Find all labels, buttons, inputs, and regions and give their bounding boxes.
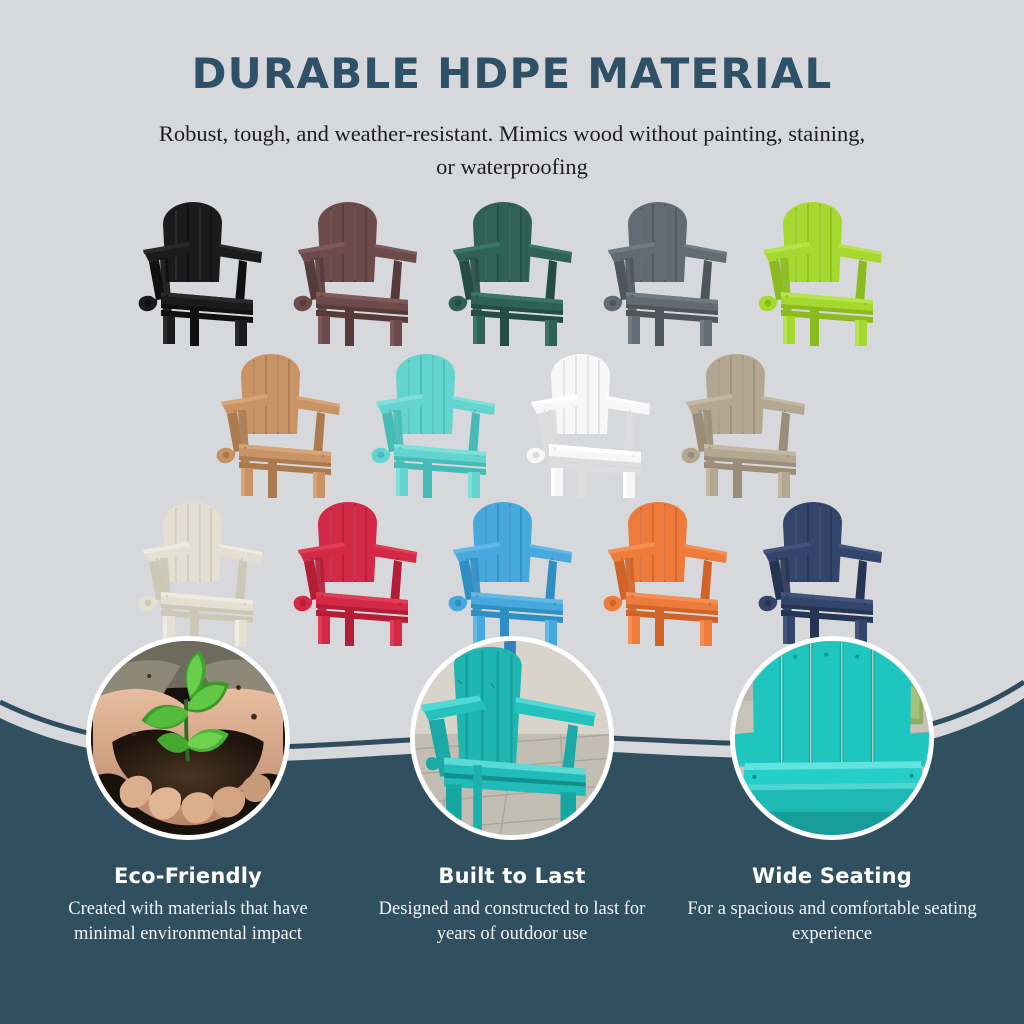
feature-description: For a spacious and comfortable seating e…: [682, 897, 982, 946]
chair-3-3: [437, 496, 587, 646]
chair-1-2: [282, 196, 432, 346]
page-subtitle: Robust, tough, and weather-resistant. Mi…: [157, 118, 867, 183]
infographic-page: DURABLE HDPE MATERIAL Robust, tough, and…: [0, 0, 1024, 1024]
turquoise-chair-on-patio-photo: [415, 641, 609, 835]
feature-eco-friendly: Eco-Friendly Created with materials that…: [28, 636, 348, 946]
header-block: DURABLE HDPE MATERIAL Robust, tough, and…: [0, 52, 1024, 183]
chair-swatch-gray[interactable]: [590, 196, 745, 346]
chair-1-4: [592, 196, 742, 346]
chair-swatch-teak[interactable]: [202, 348, 357, 498]
chair-3-5: [747, 496, 897, 646]
chair-swatch-red[interactable]: [280, 496, 435, 646]
feature-image-eco-friendly: [86, 636, 290, 840]
chair-2-4: [670, 348, 820, 498]
chair-swatch-turquoise[interactable]: [357, 348, 512, 498]
chair-3-4: [592, 496, 742, 646]
chair-1-3: [437, 196, 587, 346]
page-title: DURABLE HDPE MATERIAL: [0, 52, 1024, 96]
seedling-in-hands-photo: [91, 641, 285, 835]
chair-swatch-dark-green[interactable]: [435, 196, 590, 346]
feature-title: Built to Last: [352, 864, 672, 888]
chair-swatch-orange[interactable]: [590, 496, 745, 646]
chair-swatch-light-blue[interactable]: [435, 496, 590, 646]
chair-3-1: [127, 496, 277, 646]
chair-row-1: [0, 196, 1024, 348]
wide-seat-closeup-photo: [735, 641, 929, 835]
chair-swatch-navy-blue[interactable]: [745, 496, 900, 646]
feature-image-wide-seating: [730, 636, 934, 840]
chair-swatch-ivory[interactable]: [125, 496, 280, 646]
feature-description: Designed and constructed to last for yea…: [362, 897, 662, 946]
chair-row-2: [0, 348, 1024, 496]
feature-title: Wide Seating: [672, 864, 992, 888]
chair-color-grid: [0, 196, 1024, 656]
chair-swatch-weathered-wood[interactable]: [667, 348, 822, 498]
chair-swatch-wine-red-brown[interactable]: [280, 196, 435, 346]
chair-1-5: [747, 196, 897, 346]
feature-image-built-to-last: [410, 636, 614, 840]
chair-swatch-white[interactable]: [512, 348, 667, 498]
chair-2-3: [515, 348, 665, 498]
chair-2-2: [360, 348, 510, 498]
feature-row: Eco-Friendly Created with materials that…: [0, 636, 1024, 1024]
feature-description: Created with materials that have minimal…: [38, 897, 338, 946]
chair-2-1: [205, 348, 355, 498]
feature-wide-seating: Wide Seating For a spacious and comforta…: [672, 636, 992, 946]
chair-3-2: [282, 496, 432, 646]
chair-swatch-black[interactable]: [125, 196, 280, 346]
chair-swatch-lime-green[interactable]: [745, 196, 900, 346]
feature-built-to-last: Built to Last Designed and constructed t…: [352, 636, 672, 946]
feature-title: Eco-Friendly: [28, 864, 348, 888]
chair-row-3: [0, 496, 1024, 646]
chair-1-1: [127, 196, 277, 346]
